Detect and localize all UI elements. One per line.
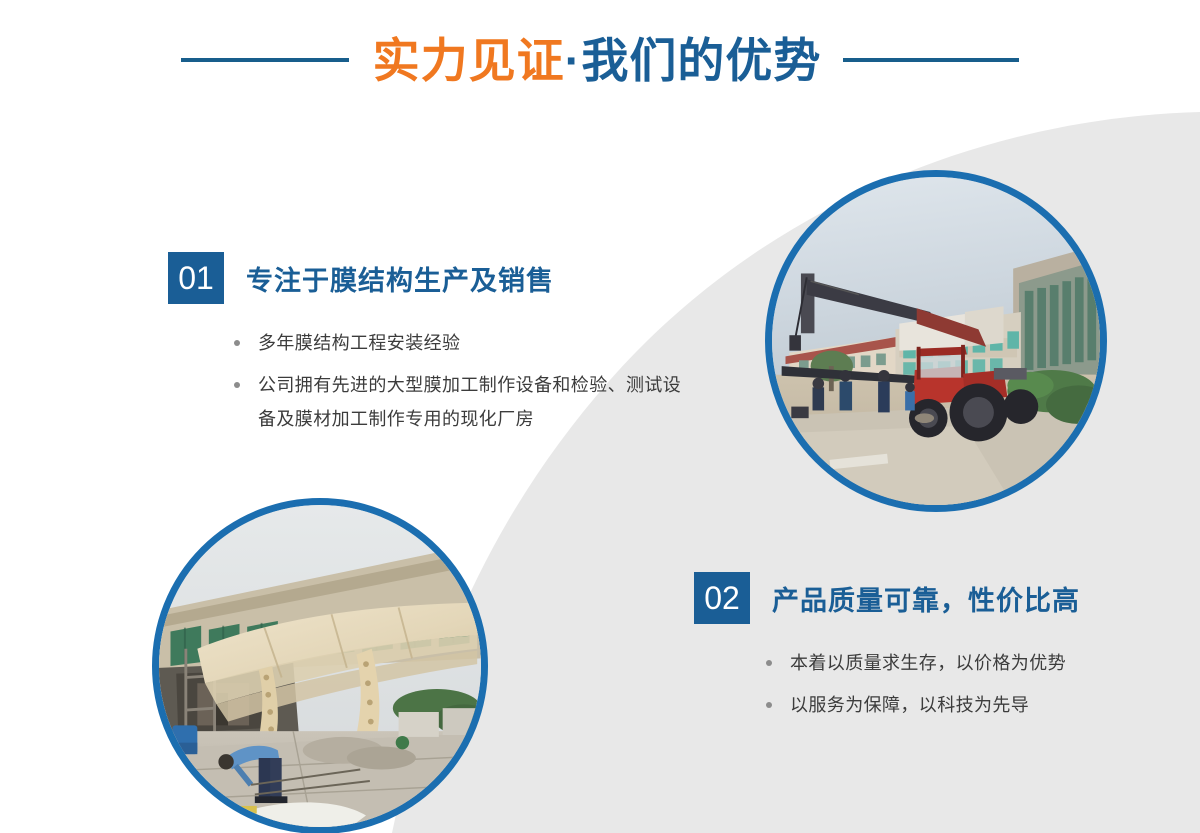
bullet-dot-icon <box>234 382 240 388</box>
feature-block-01: 01 专注于膜结构生产及销售 多年膜结构工程安装经验 公司拥有先进的大型膜加工制… <box>168 252 688 444</box>
section-header: 实力见证·我们的优势 <box>0 20 1200 100</box>
feature-02-bullet-1: 本着以质量求生存，以价格为优势 <box>766 646 1164 680</box>
feature-01-bullet-list: 多年膜结构工程安装经验 公司拥有先进的大型膜加工制作设备和检验、测试设备及膜材加… <box>234 326 688 436</box>
feature-02-bullet-2: 以服务为保障，以科技为先导 <box>766 688 1164 722</box>
feature-02-bullet-list: 本着以质量求生存，以价格为优势 以服务为保障，以科技为先导 <box>766 646 1164 722</box>
header-rule-left <box>181 58 349 62</box>
advantages-banner: 实力见证·我们的优势 <box>0 0 1200 833</box>
photo-membrane-carport <box>152 498 488 833</box>
feature-01-title: 专注于膜结构生产及销售 <box>246 259 554 298</box>
feature-01-number-badge: 01 <box>168 252 224 304</box>
photo-membrane-carport-image <box>159 505 481 827</box>
feature-02-bullet-1-text: 本着以质量求生存，以价格为优势 <box>790 653 1066 673</box>
feature-01-head: 01 专注于膜结构生产及销售 <box>168 252 688 304</box>
feature-01-bullet-1-text: 多年膜结构工程安装经验 <box>258 333 460 353</box>
feature-01-bullet-2: 公司拥有先进的大型膜加工制作设备和检验、测试设备及膜材加工制作专用的现化厂房 <box>234 368 688 436</box>
page-title-accent: 实力见证 <box>373 34 565 87</box>
page-title: 实力见证·我们的优势 <box>373 37 822 84</box>
photo-construction-crane-image <box>772 177 1100 505</box>
feature-02-bullet-2-text: 以服务为保障，以科技为先导 <box>790 695 1029 715</box>
bullet-dot-icon <box>234 340 240 346</box>
photo-construction-crane <box>765 170 1107 512</box>
bullet-dot-icon <box>766 660 772 666</box>
feature-02-title: 产品质量可靠，性价比高 <box>772 579 1080 618</box>
feature-01-bullet-2-text: 公司拥有先进的大型膜加工制作设备和检验、测试设备及膜材加工制作专用的现化厂房 <box>258 375 681 429</box>
feature-block-02: 02 产品质量可靠，性价比高 本着以质量求生存，以价格为优势 以服务为保障，以科… <box>694 572 1164 730</box>
feature-02-head: 02 产品质量可靠，性价比高 <box>694 572 1164 624</box>
feature-01-bullet-1: 多年膜结构工程安装经验 <box>234 326 688 360</box>
page-title-main: ·我们的优势 <box>565 34 822 87</box>
feature-02-number-badge: 02 <box>694 572 750 624</box>
header-rule-right <box>843 58 1019 62</box>
bullet-dot-icon <box>766 702 772 708</box>
